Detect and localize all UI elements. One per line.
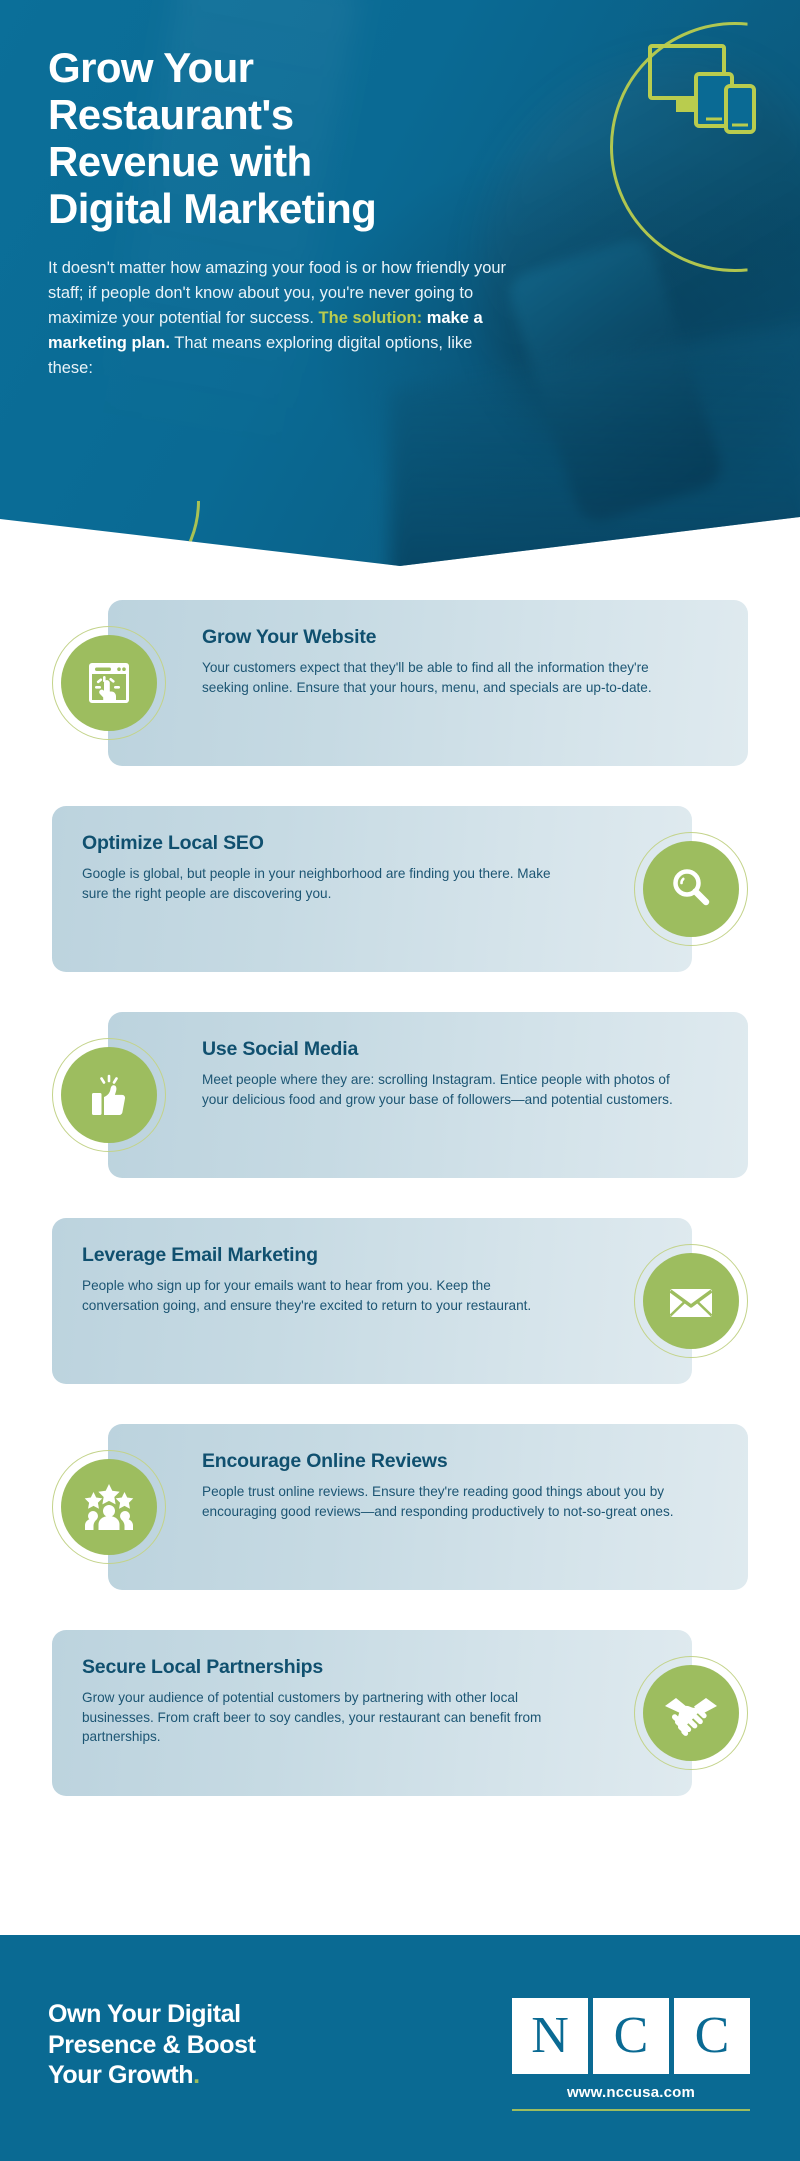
- tip-card-1: Grow Your Website Your customers expect …: [108, 600, 748, 766]
- tip-card-4: Leverage Email Marketing People who sign…: [52, 1218, 692, 1384]
- footer-headline-dot: .: [193, 2061, 200, 2089]
- handshake-icon: [634, 1656, 748, 1770]
- page-title: Grow Your Restaurant's Revenue with Digi…: [48, 44, 568, 232]
- tip-card-3: Use Social Media Meet people where they …: [108, 1012, 748, 1178]
- stars-people-icon: [52, 1450, 166, 1564]
- envelope-icon: [634, 1244, 748, 1358]
- browser-click-icon: [52, 626, 166, 740]
- logo-letter-n: N: [512, 1998, 588, 2074]
- website-url[interactable]: www.nccusa.com: [512, 2084, 750, 2101]
- tip-title: Grow Your Website: [202, 626, 682, 649]
- list-item: Grow Your Website Your customers expect …: [0, 600, 800, 784]
- footer-headline: Own Your Digital Presence & Boost Your G…: [48, 1999, 256, 2091]
- tip-title: Optimize Local SEO: [82, 832, 562, 855]
- list-item: Leverage Email Marketing People who sign…: [0, 1218, 800, 1402]
- ncc-logo[interactable]: N C C www.nccusa.com: [512, 1998, 750, 2111]
- tip-card-6: Secure Local Partnerships Grow your audi…: [52, 1630, 692, 1796]
- logo-underline: [512, 2109, 750, 2111]
- logo-letter-c2: C: [674, 1998, 750, 2074]
- hero-highlight-green: The solution:: [319, 309, 423, 327]
- devices-icon: [646, 40, 758, 145]
- magnifying-glass-icon: [634, 832, 748, 946]
- tip-title: Secure Local Partnerships: [82, 1656, 562, 1679]
- list-item: Encourage Online Reviews People trust on…: [0, 1424, 800, 1608]
- tip-body: People who sign up for your emails want …: [82, 1276, 562, 1315]
- tip-title: Leverage Email Marketing: [82, 1244, 562, 1267]
- tip-title: Use Social Media: [202, 1038, 682, 1061]
- footer: Own Your Digital Presence & Boost Your G…: [0, 1935, 800, 2161]
- list-item: Optimize Local SEO Google is global, but…: [0, 806, 800, 990]
- tip-body: Grow your audience of potential customer…: [82, 1688, 562, 1747]
- tip-body: People trust online reviews. Ensure they…: [202, 1482, 682, 1521]
- thumbs-up-icon: [52, 1038, 166, 1152]
- tip-title: Encourage Online Reviews: [202, 1450, 682, 1473]
- tip-body: Meet people where they are: scrolling In…: [202, 1070, 682, 1109]
- hero-header: Grow Your Restaurant's Revenue with Digi…: [0, 0, 800, 566]
- tip-body: Your customers expect that they'll be ab…: [202, 658, 682, 697]
- logo-letter-c1: C: [593, 1998, 669, 2074]
- tip-body: Google is global, but people in your nei…: [82, 864, 562, 903]
- list-item: Use Social Media Meet people where they …: [0, 1012, 800, 1196]
- hero-paragraph: It doesn't matter how amazing your food …: [48, 256, 508, 381]
- list-item: Secure Local Partnerships Grow your audi…: [0, 1630, 800, 1814]
- tip-card-5: Encourage Online Reviews People trust on…: [108, 1424, 748, 1590]
- tips-list: Grow Your Website Your customers expect …: [0, 600, 800, 1836]
- tip-card-2: Optimize Local SEO Google is global, but…: [52, 806, 692, 972]
- footer-headline-text: Own Your Digital Presence & Boost Your G…: [48, 2000, 256, 2089]
